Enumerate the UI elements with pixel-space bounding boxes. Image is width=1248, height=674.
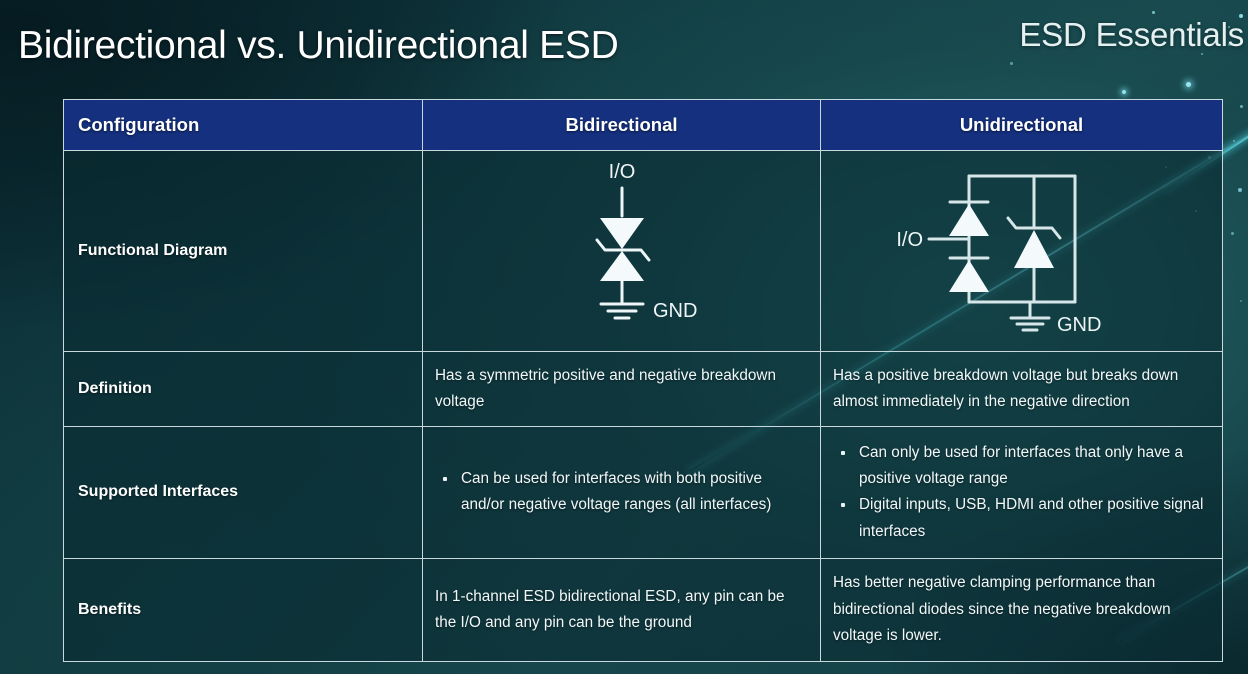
- cell-unidirectional-interfaces: Can only be used for interfaces that onl…: [821, 426, 1223, 558]
- particle-dot: [1186, 82, 1191, 87]
- list-item: Digital inputs, USB, HDMI and other posi…: [833, 492, 1208, 545]
- particle-dot: [1233, 140, 1235, 142]
- cell-unidirectional-diagram: I/O GND: [821, 151, 1223, 352]
- diode-triangle-upper: [600, 218, 644, 249]
- bullet-list: Can only be used for interfaces that onl…: [833, 440, 1208, 545]
- cell-bidirectional-diagram: I/O GND: [423, 151, 821, 352]
- slide-canvas: Bidirectional vs. Unidirectional ESD ESD…: [0, 0, 1248, 674]
- list-item: Can only be used for interfaces that onl…: [833, 440, 1208, 493]
- diode-triangle-lower: [600, 251, 644, 281]
- row-label-functional-diagram: Functional Diagram: [64, 151, 423, 352]
- column-header-configuration: Configuration: [64, 100, 423, 151]
- particle-dot: [1010, 62, 1013, 65]
- table-row: Benefits In 1-channel ESD bidirectional …: [64, 558, 1223, 661]
- page-title: Bidirectional vs. Unidirectional ESD: [18, 24, 618, 68]
- table-row: Supported Interfaces Can be used for int…: [64, 426, 1223, 558]
- table-row: Functional Diagram: [64, 151, 1223, 352]
- table-header-row: Configuration Bidirectional Unidirection…: [64, 100, 1223, 151]
- cell-bidirectional-definition: Has a symmetric positive and negative br…: [423, 352, 821, 427]
- particle-dot: [1240, 105, 1243, 108]
- particle-dot: [1238, 188, 1242, 192]
- steering-diode-triangle-upper: [949, 204, 989, 236]
- unidirectional-steering-diode-icon: I/O GND: [897, 156, 1147, 346]
- row-label-supported-interfaces: Supported Interfaces: [64, 426, 423, 558]
- cell-unidirectional-benefits: Has better negative clamping performance…: [821, 558, 1223, 661]
- column-header-bidirectional: Bidirectional: [423, 100, 821, 151]
- list-item: Can be used for interfaces with both pos…: [435, 466, 806, 519]
- io-label: I/O: [897, 229, 923, 251]
- cell-unidirectional-definition: Has a positive breakdown voltage but bre…: [821, 352, 1223, 427]
- cell-bidirectional-benefits: In 1-channel ESD bidirectional ESD, any …: [423, 558, 821, 661]
- series-kicker: ESD Essentials: [1019, 16, 1244, 54]
- io-label: I/O: [608, 161, 635, 183]
- particle-dot: [1231, 232, 1234, 235]
- table-row: Definition Has a symmetric positive and …: [64, 352, 1223, 427]
- bullet-list: Can be used for interfaces with both pos…: [435, 466, 806, 519]
- particle-dot: [1240, 300, 1242, 302]
- gnd-label: GND: [653, 300, 697, 322]
- particle-dot: [1152, 11, 1155, 14]
- comparison-table-wrapper: Configuration Bidirectional Unidirection…: [63, 99, 1222, 662]
- steering-diode-triangle-lower: [949, 260, 989, 292]
- gnd-label: GND: [1057, 314, 1101, 336]
- row-label-definition: Definition: [64, 352, 423, 427]
- bidirectional-tvs-diode-icon: I/O GND: [517, 156, 727, 346]
- particle-dot: [1122, 90, 1126, 94]
- row-label-benefits: Benefits: [64, 558, 423, 661]
- cell-bidirectional-interfaces: Can be used for interfaces with both pos…: [423, 426, 821, 558]
- comparison-table: Configuration Bidirectional Unidirection…: [63, 99, 1223, 662]
- column-header-unidirectional: Unidirectional: [821, 100, 1223, 151]
- zener-diode-triangle: [1014, 230, 1054, 268]
